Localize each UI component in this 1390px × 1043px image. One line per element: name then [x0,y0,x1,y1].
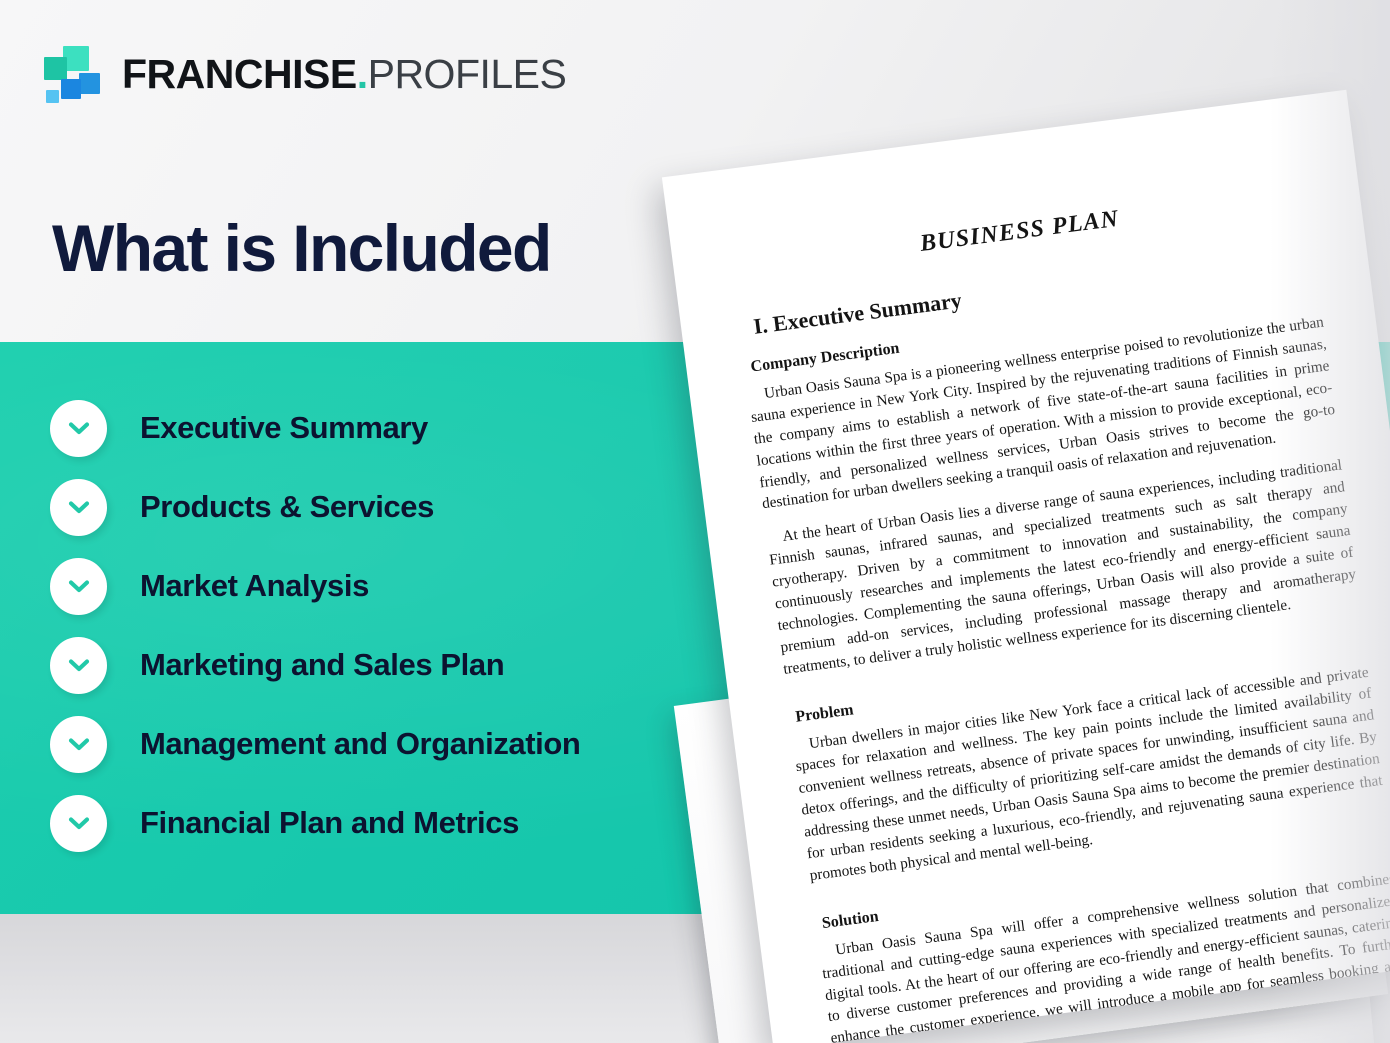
logo-square-blue-right [79,73,100,94]
list-item-label: Market Analysis [140,568,369,604]
logo-square-green [44,57,67,80]
brand-name-dot: . [357,51,368,97]
brand-name-bold: FRANCHISE [122,51,357,97]
list-item[interactable]: Products & Services [50,477,750,537]
chevron-down-icon [50,637,107,694]
business-plan-document-stack: ...an wellness ...ed by exceptional ...m… [660,120,1390,1043]
chevron-down-icon [50,795,107,852]
list-item-label: Marketing and Sales Plan [140,647,504,683]
five-squares-logo-mark-icon [44,46,106,102]
brand-wordmark: FRANCHISE.PROFILES [122,54,566,95]
chevron-down-icon [50,716,107,773]
brand-name-light: PROFILES [368,51,567,97]
list-item-label: Management and Organization [140,726,580,762]
list-item[interactable]: Executive Summary [50,398,750,458]
list-item[interactable]: Marketing and Sales Plan [50,635,750,695]
chevron-down-icon [50,479,107,536]
list-item-label: Products & Services [140,489,434,525]
list-item[interactable]: Management and Organization [50,714,750,774]
logo-square-lightblue-small [46,90,59,103]
list-item[interactable]: Market Analysis [50,556,750,616]
brand-logo[interactable]: FRANCHISE.PROFILES [44,40,566,108]
slide-canvas: FRANCHISE.PROFILES What is Included Exec… [0,0,1390,1043]
list-item-label: Executive Summary [140,410,428,446]
page-title: What is Included [52,214,551,283]
chevron-down-icon [50,558,107,615]
included-sections-list: Executive Summary Products & Services Ma… [50,398,750,872]
chevron-down-icon [50,400,107,457]
logo-square-blue-mid [61,79,81,99]
document-page-front[interactable]: BUSINESS PLAN I. Executive Summary Compa… [662,90,1390,1043]
list-item[interactable]: Financial Plan and Metrics [50,793,750,853]
list-item-label: Financial Plan and Metrics [140,805,519,841]
document-page-content: BUSINESS PLAN I. Executive Summary Compa… [662,90,1390,1043]
